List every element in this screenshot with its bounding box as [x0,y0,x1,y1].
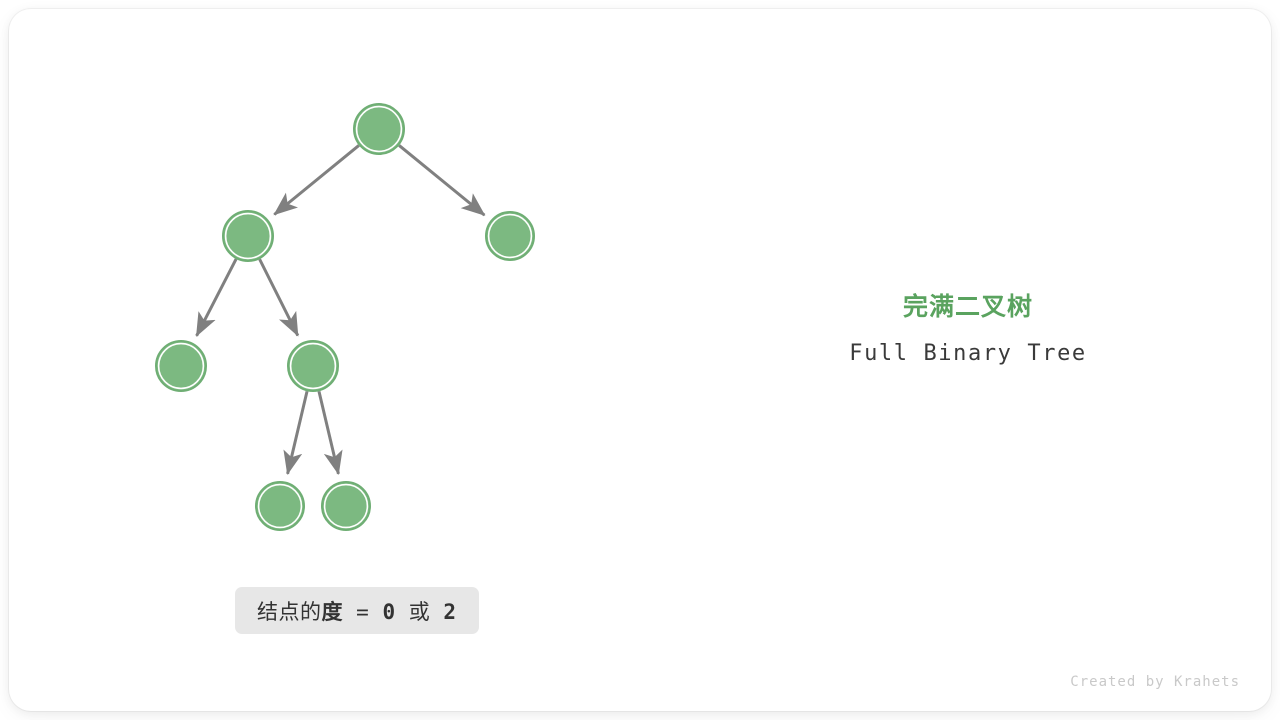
tree-node-fill [160,345,202,387]
tree-edge [399,145,484,215]
tree-edge [274,145,359,214]
tree-node [288,341,338,391]
tree-node-fill [490,216,530,256]
degree-note-segment: 或 [396,596,444,626]
tree-edges [197,145,485,473]
tree-node-fill [326,486,366,526]
caption-title: 完满二叉树 [768,292,1168,322]
caption-subtitle: Full Binary Tree [768,340,1168,368]
degree-note-pill: 结点的度 = 0 或 2 [235,587,479,634]
tree-node [486,212,534,260]
degree-note-segment: 度 [322,596,344,626]
tree-node [354,104,404,154]
watermark-credit: Created by Krahets [1070,674,1240,690]
degree-note-segment: 0 [382,600,395,624]
tree-nodes [156,104,534,530]
tree-node-fill [227,215,269,257]
tree-node-fill [260,486,300,526]
tree-node-fill [292,345,334,387]
tree-node [256,482,304,530]
degree-note-segment: 结点的 [257,596,322,626]
figure-canvas: 完满二叉树 Full Binary Tree 结点的度 = 0 或 2 Crea… [0,0,1280,720]
degree-note-text: 结点的度 = 0 或 2 [257,596,457,626]
caption-block: 完满二叉树 Full Binary Tree [768,292,1168,368]
degree-note-segment: = [343,600,382,624]
tree-edge [319,391,338,474]
tree-node-fill [358,108,400,150]
tree-edge [260,259,298,335]
tree-edge [288,391,307,474]
degree-note-segment: 2 [443,600,456,624]
tree-node [156,341,206,391]
tree-node [322,482,370,530]
tree-edge [197,259,237,336]
tree-node [223,211,273,261]
